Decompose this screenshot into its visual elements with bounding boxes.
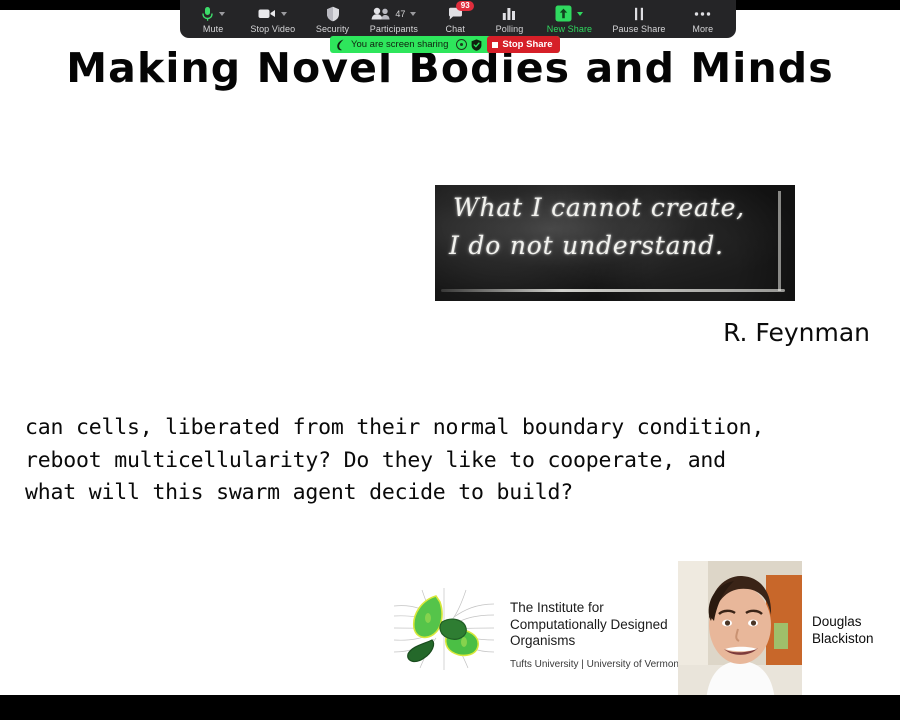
toolbar-label-more: More xyxy=(692,24,713,34)
bar-chart-icon xyxy=(502,7,516,21)
chevron-down-icon[interactable] xyxy=(219,12,225,16)
person-name-line-2: Blackiston xyxy=(812,630,900,647)
toolbar-button-pause-share[interactable]: Pause Share xyxy=(610,0,667,38)
xenobot-logo-icon xyxy=(392,584,496,674)
microphone-icon xyxy=(201,6,214,22)
chevron-down-icon[interactable] xyxy=(410,12,416,16)
share-up-arrow-icon xyxy=(555,5,572,22)
toolbar-button-participants[interactable]: 47 Participants xyxy=(368,0,420,38)
record-indicator-icon[interactable] xyxy=(456,39,467,50)
feynman-blackboard-image: What I cannot create, I do not understan… xyxy=(435,185,795,301)
board-edge xyxy=(778,191,781,291)
person-name-line-1: Douglas xyxy=(812,613,900,630)
toolbar-label-pause-share: Pause Share xyxy=(612,24,665,34)
toolbar-button-security[interactable]: Security xyxy=(314,0,352,38)
participants-count: 47 xyxy=(395,9,405,19)
sharing-status-text: You are screen sharing xyxy=(351,39,448,50)
zoom-meeting-toolbar: Mute Stop Video Security xyxy=(180,0,736,38)
screen-sharing-banner: You are screen sharing Stop Share xyxy=(330,36,560,53)
chevron-down-icon[interactable] xyxy=(577,12,583,16)
toolbar-label-new-share: New Share xyxy=(547,24,592,34)
stop-square-icon xyxy=(492,42,498,48)
quote-line-2: I do not understand. xyxy=(449,231,724,260)
toolbar-label-security: Security xyxy=(316,24,349,34)
toolbar-label-mute: Mute xyxy=(203,24,223,34)
institute-logo-block: The Institute for Computationally Design… xyxy=(392,582,682,678)
toolbar-button-more[interactable]: More xyxy=(684,0,722,38)
institute-name: The Institute for Computationally Design… xyxy=(510,600,685,650)
zoom-screen-share-window: Making Novel Bodies and Minds What I can… xyxy=(0,0,900,720)
avatar xyxy=(678,561,802,695)
toolbar-label-chat: Chat xyxy=(446,24,465,34)
stop-share-button[interactable]: Stop Share xyxy=(487,36,559,53)
institute-logo-text: The Institute for Computationally Design… xyxy=(510,600,685,670)
toolbar-label-stop-video: Stop Video xyxy=(250,24,295,34)
participants-icon xyxy=(371,7,390,20)
chevron-down-icon[interactable] xyxy=(281,12,287,16)
chalk-rail xyxy=(441,289,785,292)
toolbar-button-new-share[interactable]: New Share xyxy=(545,0,594,38)
stop-share-label: Stop Share xyxy=(502,39,552,50)
portrait-photo xyxy=(678,561,802,695)
video-camera-icon xyxy=(258,7,276,20)
toolbar-button-polling[interactable]: Polling xyxy=(490,0,528,38)
toolbar-label-participants: Participants xyxy=(370,24,418,34)
toolbar-label-polling: Polling xyxy=(496,24,524,34)
quote-line-1: What I cannot create, xyxy=(453,193,745,222)
person-name: Douglas Blackiston xyxy=(812,613,900,647)
chat-unread-badge: 93 xyxy=(456,1,474,11)
toolbar-button-stop-video[interactable]: Stop Video xyxy=(248,0,297,38)
quote-attribution: R. Feynman xyxy=(0,318,870,347)
institute-affiliation: Tufts University | University of Vermont xyxy=(510,659,685,670)
ellipsis-icon xyxy=(694,11,711,17)
presentation-slide: Making Novel Bodies and Minds What I can… xyxy=(0,10,900,695)
slide-body-text: can cells, liberated from their normal b… xyxy=(25,412,785,510)
pause-icon xyxy=(633,7,645,21)
sharing-leaf-icon xyxy=(336,39,345,51)
shield-icon xyxy=(326,6,340,22)
toolbar-button-chat[interactable]: 93 Chat xyxy=(436,0,474,38)
toolbar-button-mute[interactable]: Mute xyxy=(194,0,232,38)
shield-check-icon[interactable] xyxy=(471,39,482,51)
